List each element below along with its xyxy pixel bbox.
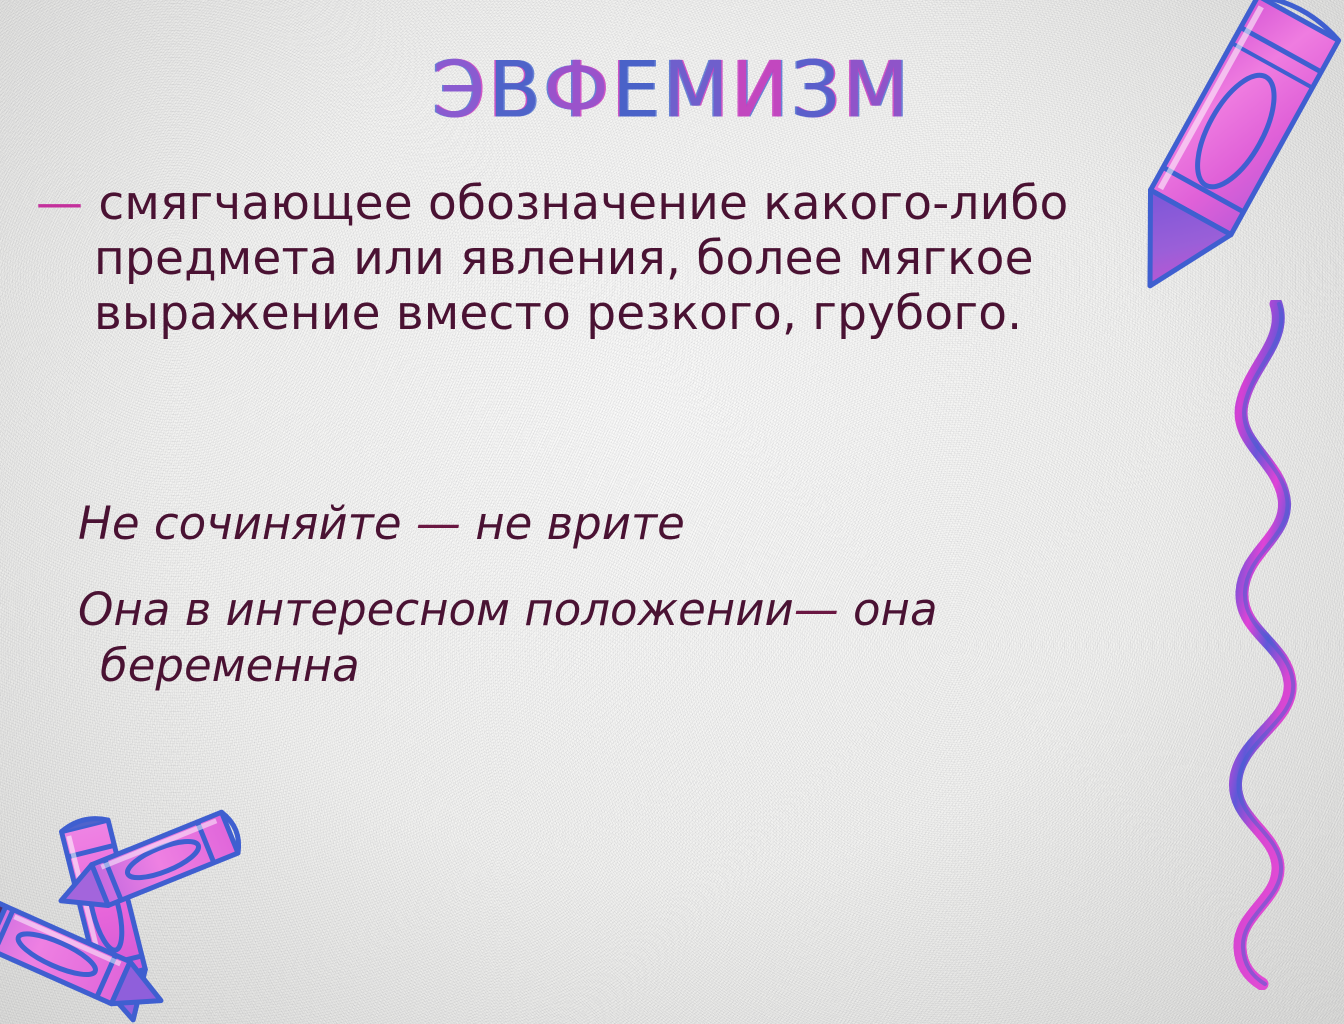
example-item: Она в интересном положении— она беременн… <box>78 582 1198 694</box>
definition-text: — смягчающее обозначение какого-либо пре… <box>36 176 1251 341</box>
definition-line-3: выражение вместо резкого, грубого. <box>36 286 1251 341</box>
example-before: Она в интересном положении <box>78 583 794 636</box>
title-letter: Э <box>432 44 488 135</box>
title-container: ЭВФЕМИЗМ <box>0 52 1344 128</box>
em-dash: — <box>36 176 83 231</box>
example-after: она <box>853 583 938 636</box>
example-line: Она в интересном положении— она <box>78 582 1198 638</box>
em-dash: — <box>416 497 461 550</box>
example-item: Не сочиняйте — не врите <box>78 496 1198 552</box>
definition-line-1-text: смягчающее обозначение какого-либо <box>98 176 1068 231</box>
page-title: ЭВФЕМИЗМ <box>432 51 911 129</box>
example-continuation: беременна <box>78 638 1198 694</box>
title-letter: Е <box>612 44 663 135</box>
title-letter: З <box>791 44 843 135</box>
title-letter: М <box>663 44 732 135</box>
example-line: Не сочиняйте — не врите <box>78 496 1198 552</box>
definition-line-1: — смягчающее обозначение какого-либо <box>36 176 1251 231</box>
title-letter: Ф <box>544 44 612 135</box>
examples-list: Не сочиняйте — не врите Она в интересном… <box>78 496 1198 724</box>
crayons-icon <box>0 809 280 1024</box>
example-after: не врите <box>475 497 685 550</box>
squiggle-line-icon <box>1204 300 1314 990</box>
title-letter: М <box>843 44 912 135</box>
title-letter: И <box>732 44 792 135</box>
slide-canvas: ЭВФЕМИЗМ — смягчающее обозначение какого… <box>0 0 1344 1024</box>
definition-line-2: предмета или явления, более мягкое <box>36 231 1251 286</box>
title-letter: В <box>488 44 543 135</box>
example-before: Не сочиняйте <box>78 497 402 550</box>
em-dash: — <box>794 583 839 636</box>
